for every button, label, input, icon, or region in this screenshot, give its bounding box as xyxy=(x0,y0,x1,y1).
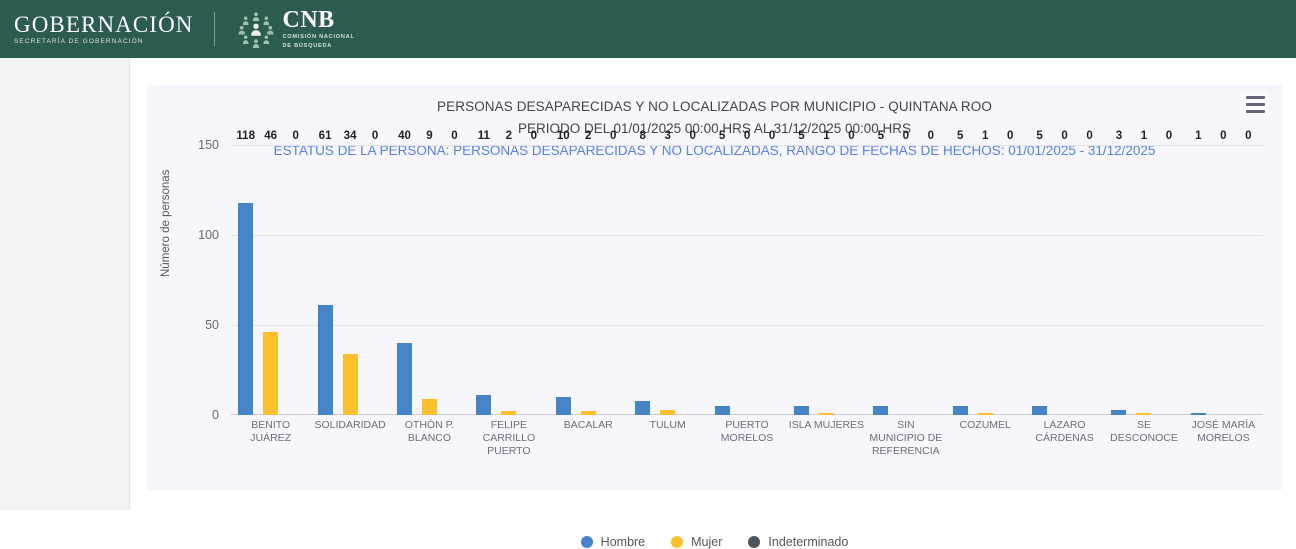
bar-hombre[interactable]: 3 xyxy=(1111,410,1126,415)
bar-value-label: 0 xyxy=(292,130,298,142)
bar-set: 500 xyxy=(707,145,786,415)
bar-mujer[interactable]: 34 xyxy=(343,354,358,415)
plot-wrapper: Número de personas 150100500 11846061340… xyxy=(147,145,1282,490)
bar-value-label: 46 xyxy=(264,130,277,142)
bar-set: 4090 xyxy=(390,145,469,415)
bar-hombre[interactable]: 11 xyxy=(476,395,491,415)
bar-group: 100 xyxy=(1184,145,1263,415)
bar-value-label: 11 xyxy=(478,130,490,142)
bar-value-label: 118 xyxy=(236,130,255,142)
bar-mujer[interactable]: 1 xyxy=(978,413,993,415)
chart-legend: HombreMujerIndeterminado xyxy=(147,535,1282,549)
bar-group: 510 xyxy=(787,145,866,415)
bar-mujer[interactable]: 9 xyxy=(422,399,437,415)
bar-set: 61340 xyxy=(310,145,389,415)
bar-group: 500 xyxy=(866,145,945,415)
y-tick-0: 0 xyxy=(212,408,219,422)
page-body: PERSONAS DESAPARECIDAS Y NO LOCALIZADAS … xyxy=(0,58,1296,510)
bar-set: 830 xyxy=(628,145,707,415)
legend-color-dot xyxy=(748,536,760,548)
bar-slot: 2 xyxy=(501,145,516,415)
legend-label: Hombre xyxy=(601,535,645,549)
bar-value-label: 10 xyxy=(557,130,570,142)
bar-hombre[interactable]: 1 xyxy=(1191,413,1206,415)
bar-hombre[interactable]: 61 xyxy=(318,305,333,415)
x-axis-label: SIN MUNICIPIO DE REFERENCIA xyxy=(866,419,945,458)
bar-slot: 1 xyxy=(819,145,834,415)
bar-slot: 0 xyxy=(526,145,541,415)
bar-slot: 34 xyxy=(343,145,358,415)
x-axis-label: LÁZARO CÁRDENAS xyxy=(1025,419,1104,458)
bar-value-label: 1 xyxy=(1195,130,1201,142)
bar-mujer[interactable]: 2 xyxy=(581,411,596,415)
bar-set: 500 xyxy=(866,145,945,415)
x-axis-label: OTHÓN P. BLANCO xyxy=(390,419,469,458)
bar-group: 830 xyxy=(628,145,707,415)
gobernacion-subtitle: SECRETARÍA DE GOBERNACIÓN xyxy=(14,39,194,46)
site-header: GOBERNACIÓN SECRETARÍA DE GOBERNACIÓN xyxy=(0,0,1296,58)
legend-label: Indeterminado xyxy=(768,535,848,549)
bar-group: 61340 xyxy=(310,145,389,415)
bar-slot: 118 xyxy=(238,145,253,415)
bar-group: 1020 xyxy=(549,145,628,415)
x-axis-label: SOLIDARIDAD xyxy=(310,419,389,458)
bar-mujer[interactable]: 3 xyxy=(660,410,675,415)
y-tick-50: 50 xyxy=(205,318,219,332)
x-axis-label: JOSÉ MARÍA MORELOS xyxy=(1184,419,1263,458)
cnb-tagline-line1: COMISIÓN NACIONAL xyxy=(283,35,355,41)
x-axis-label: PUERTO MORELOS xyxy=(707,419,786,458)
bar-slot: 3 xyxy=(1111,145,1126,415)
bar-hombre[interactable]: 118 xyxy=(238,203,253,415)
bar-value-label: 0 xyxy=(1245,130,1251,142)
y-tick-100: 100 xyxy=(198,228,219,242)
bar-slot: 61 xyxy=(318,145,333,415)
bar-slot: 0 xyxy=(1241,145,1256,415)
bar-value-label: 0 xyxy=(1061,130,1067,142)
y-axis-title: Número de personas xyxy=(160,170,172,277)
bar-slot: 9 xyxy=(422,145,437,415)
bar-value-label: 5 xyxy=(798,130,804,142)
bar-value-label: 0 xyxy=(744,130,750,142)
bar-hombre[interactable]: 5 xyxy=(953,406,968,415)
bar-set: 510 xyxy=(946,145,1025,415)
y-tick-150: 150 xyxy=(198,138,219,152)
bar-value-label: 2 xyxy=(506,130,512,142)
bar-mujer[interactable]: 1 xyxy=(1136,413,1151,415)
bar-mujer[interactable]: 46 xyxy=(263,332,278,415)
bar-hombre[interactable]: 5 xyxy=(715,406,730,415)
chart-panel: PERSONAS DESAPARECIDAS Y NO LOCALIZADAS … xyxy=(147,85,1282,490)
bar-value-label: 0 xyxy=(531,130,537,142)
legend-color-dot xyxy=(581,536,593,548)
bar-slot: 0 xyxy=(898,145,913,415)
bar-value-label: 0 xyxy=(848,130,854,142)
bar-group: 310 xyxy=(1104,145,1183,415)
cnb-people-circle-logo-icon xyxy=(237,10,275,48)
bar-set: 118460 xyxy=(231,145,310,415)
bar-value-label: 0 xyxy=(769,130,775,142)
bar-value-label: 5 xyxy=(719,130,725,142)
legend-label: Mujer xyxy=(691,535,722,549)
left-sidebar-rail xyxy=(0,58,130,510)
bar-value-label: 0 xyxy=(372,130,378,142)
x-axis-label: TULUM xyxy=(628,419,707,458)
x-axis-label: COZUMEL xyxy=(946,419,1025,458)
bar-value-label: 0 xyxy=(1220,130,1226,142)
bar-hombre[interactable]: 5 xyxy=(1032,406,1047,415)
x-axis-label: BENITO JUÁREZ xyxy=(231,419,310,458)
bar-value-label: 3 xyxy=(1116,130,1122,142)
bar-value-label: 8 xyxy=(639,130,645,142)
legend-item-hombre[interactable]: Hombre xyxy=(581,535,645,549)
bar-group: 510 xyxy=(946,145,1025,415)
bar-slot: 0 xyxy=(606,145,621,415)
legend-item-mujer[interactable]: Mujer xyxy=(671,535,722,549)
bar-slot: 0 xyxy=(288,145,303,415)
legend-item-indeterminado[interactable]: Indeterminado xyxy=(748,535,848,549)
cnb-text-block: CNB COMISIÓN NACIONAL DE BÚSQUEDA xyxy=(283,8,355,49)
bar-hombre[interactable]: 8 xyxy=(635,401,650,415)
bar-value-label: 0 xyxy=(1166,130,1172,142)
bar-group: 500 xyxy=(707,145,786,415)
bar-hombre[interactable]: 10 xyxy=(556,397,571,415)
x-axis-label: FELIPE CARRILLO PUERTO xyxy=(469,419,548,458)
x-axis-label: SE DESCONOCE xyxy=(1104,419,1183,458)
plot-area: 1184606134040901120102083050051050051050… xyxy=(231,145,1263,415)
bar-slot: 0 xyxy=(1082,145,1097,415)
bar-slot: 0 xyxy=(1057,145,1072,415)
bar-value-label: 2 xyxy=(585,130,591,142)
bar-value-label: 5 xyxy=(1036,130,1042,142)
bar-slot: 0 xyxy=(685,145,700,415)
bar-slot: 0 xyxy=(844,145,859,415)
bar-value-label: 3 xyxy=(664,130,670,142)
bar-value-label: 0 xyxy=(451,130,457,142)
cnb-logo-lockup: CNB COMISIÓN NACIONAL DE BÚSQUEDA xyxy=(237,8,355,49)
bar-slot: 5 xyxy=(715,145,730,415)
gobernacion-wordmark: GOBERNACIÓN SECRETARÍA DE GOBERNACIÓN xyxy=(14,13,194,46)
bar-hombre[interactable]: 40 xyxy=(397,343,412,415)
bar-slot: 11 xyxy=(476,145,491,415)
bar-value-label: 5 xyxy=(957,130,963,142)
bar-slot: 10 xyxy=(556,145,571,415)
bar-groups: 1184606134040901120102083050051050051050… xyxy=(231,145,1263,415)
bar-group: 1120 xyxy=(469,145,548,415)
bar-value-label: 40 xyxy=(398,130,411,142)
bar-set: 1120 xyxy=(469,145,548,415)
bar-value-label: 9 xyxy=(426,130,432,142)
bar-slot: 0 xyxy=(1003,145,1018,415)
legend-color-dot xyxy=(671,536,683,548)
bar-set: 100 xyxy=(1184,145,1263,415)
bar-set: 500 xyxy=(1025,145,1104,415)
bar-slot: 0 xyxy=(1216,145,1231,415)
bar-slot: 5 xyxy=(873,145,888,415)
bar-value-label: 0 xyxy=(1086,130,1092,142)
bar-set: 310 xyxy=(1104,145,1183,415)
bar-slot: 0 xyxy=(740,145,755,415)
bar-slot: 0 xyxy=(447,145,462,415)
chart-title: PERSONAS DESAPARECIDAS Y NO LOCALIZADAS … xyxy=(147,96,1282,118)
bar-set: 1020 xyxy=(549,145,628,415)
bar-slot: 8 xyxy=(635,145,650,415)
bar-set: 510 xyxy=(787,145,866,415)
bar-value-label: 1 xyxy=(823,130,829,142)
bar-value-label: 0 xyxy=(689,130,695,142)
y-axis-ticks: 150100500 xyxy=(177,145,225,415)
bar-mujer[interactable]: 1 xyxy=(819,413,834,415)
bar-slot: 5 xyxy=(1032,145,1047,415)
bar-slot: 1 xyxy=(1191,145,1206,415)
x-axis-label: BACALAR xyxy=(549,419,628,458)
bar-slot: 2 xyxy=(581,145,596,415)
bar-slot: 1 xyxy=(978,145,993,415)
bar-slot: 5 xyxy=(794,145,809,415)
bar-slot: 3 xyxy=(660,145,675,415)
cnb-tagline-line2: DE BÚSQUEDA xyxy=(283,44,355,50)
bar-group: 4090 xyxy=(390,145,469,415)
chart-subtitle: PERIODO DEL 01/01/2025 00:00 HRS AL 31/1… xyxy=(147,118,1282,140)
bar-value-label: 34 xyxy=(344,130,357,142)
bar-slot: 0 xyxy=(368,145,383,415)
bar-group: 500 xyxy=(1025,145,1104,415)
cnb-name: CNB xyxy=(283,8,355,32)
bar-slot: 0 xyxy=(765,145,780,415)
bar-value-label: 0 xyxy=(610,130,616,142)
bar-slot: 0 xyxy=(923,145,938,415)
header-divider xyxy=(214,12,215,46)
bar-value-label: 0 xyxy=(928,130,934,142)
bar-slot: 46 xyxy=(263,145,278,415)
bar-mujer[interactable]: 2 xyxy=(501,411,516,415)
x-axis-label: ISLA MUJERES xyxy=(787,419,866,458)
bar-value-label: 1 xyxy=(1141,130,1147,142)
bar-value-label: 5 xyxy=(878,130,884,142)
bar-slot: 1 xyxy=(1136,145,1151,415)
bar-value-label: 61 xyxy=(319,130,332,142)
bar-value-label: 1 xyxy=(982,130,988,142)
bar-hombre[interactable]: 5 xyxy=(873,406,888,415)
bar-slot: 0 xyxy=(1161,145,1176,415)
bar-slot: 5 xyxy=(953,145,968,415)
bar-group: 118460 xyxy=(231,145,310,415)
bar-value-label: 0 xyxy=(1007,130,1013,142)
bar-hombre[interactable]: 5 xyxy=(794,406,809,415)
bar-value-label: 0 xyxy=(903,130,909,142)
bar-slot: 40 xyxy=(397,145,412,415)
gobernacion-title: GOBERNACIÓN xyxy=(14,13,194,36)
x-axis-labels: BENITO JUÁREZSOLIDARIDADOTHÓN P. BLANCOF… xyxy=(231,419,1263,458)
